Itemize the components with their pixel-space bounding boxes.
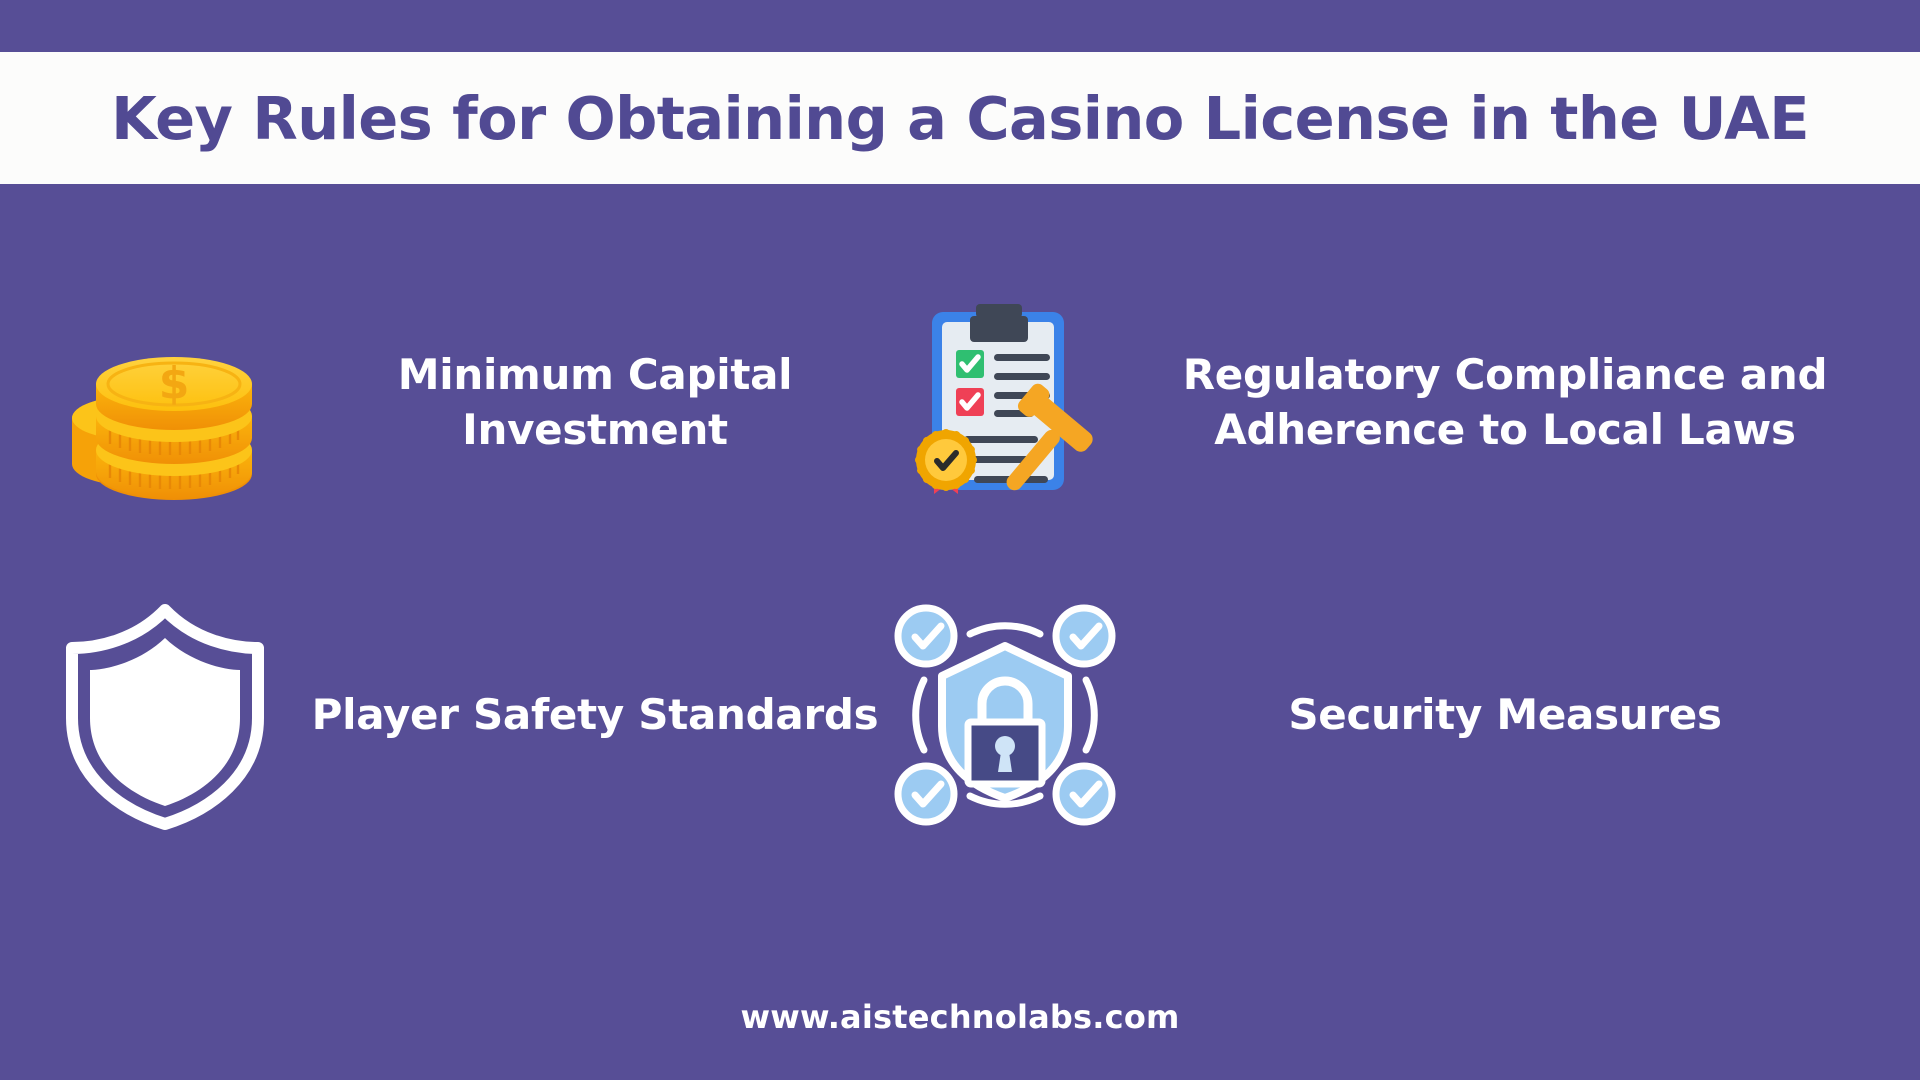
svg-text:$: $ (159, 358, 190, 409)
shield-outline-icon (40, 590, 290, 840)
infographic-canvas: Key Rules for Obtaining a Casino License… (0, 0, 1920, 1080)
feature-label: Security Measures (1130, 688, 1880, 743)
title-banner: Key Rules for Obtaining a Casino License… (0, 52, 1920, 184)
clipboard-checklist-gavel-icon (880, 278, 1130, 528)
footer-website[interactable]: www.aistechnolabs.com (0, 998, 1920, 1036)
coin-stack-icon: $ (40, 278, 290, 528)
feature-label: Regulatory Compliance and Adherence to L… (1130, 348, 1880, 457)
page-title: Key Rules for Obtaining a Casino License… (111, 89, 1809, 148)
feature-item-regulatory-compliance: Regulatory Compliance and Adherence to L… (880, 278, 1880, 528)
feature-item-security-measures: Security Measures (880, 590, 1880, 840)
features-grid: $ Minimum Capital Investment (0, 200, 1920, 950)
security-lock-shield-icon (880, 590, 1130, 840)
feature-item-player-safety-standards: Player Safety Standards (40, 590, 900, 840)
feature-label: Player Safety Standards (290, 688, 900, 743)
feature-item-minimum-capital-investment: $ Minimum Capital Investment (40, 278, 900, 528)
feature-label: Minimum Capital Investment (290, 348, 900, 457)
